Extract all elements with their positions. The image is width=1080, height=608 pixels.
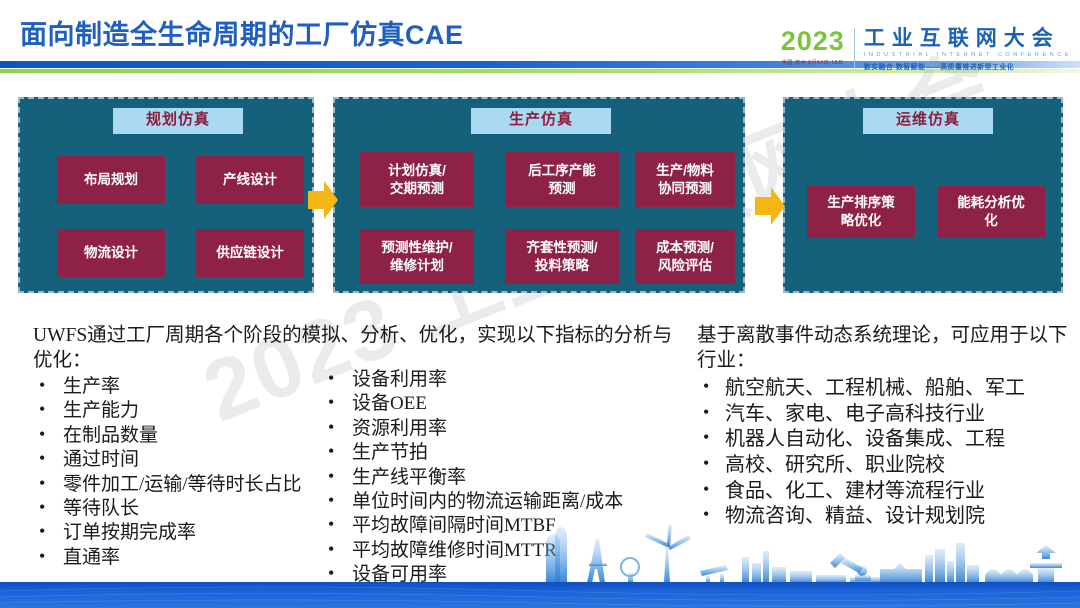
- list-item: 平均故障间隔时间MTBF: [322, 514, 692, 538]
- diagram-cell: 布局规划: [57, 156, 165, 204]
- list-item: 设备利用率: [322, 368, 692, 392]
- list-item: 资源利用率: [322, 417, 692, 441]
- slide-header: 面向制造全生命周期的工厂仿真CAE 2023 中国·苏州 8月14日-16日 工…: [0, 0, 1080, 78]
- diagram-panel-3: 运维仿真生产排序策略优化能耗分析优化: [783, 97, 1063, 293]
- conference-logo: 2023 中国·苏州 8月14日-16日 工业互联网大会 INDUSTRIAL …: [781, 28, 1072, 76]
- diagram-cell: 供应链设计: [196, 229, 304, 277]
- panel-title-3: 运维仿真: [863, 108, 993, 134]
- list-item: 生产线平衡率: [322, 466, 692, 490]
- diagram-cell: 生产排序策略优化: [807, 186, 915, 238]
- column-middle: 设备利用率设备OEE资源利用率生产节拍生产线平衡率单位时间内的物流运输距离/成本…: [322, 368, 692, 588]
- list-item: 平均故障维修时间MTTR: [322, 539, 692, 563]
- diagram-cell: 后工序产能预测: [505, 152, 619, 207]
- diagram-panel-1: 规划仿真布局规划产线设计物流设计供应链设计: [18, 97, 314, 293]
- logo-divider: [854, 28, 855, 68]
- list-item: 生产节拍: [322, 441, 692, 465]
- page-title: 面向制造全生命周期的工厂仿真CAE: [20, 13, 464, 52]
- logo-slogan: 数实融合 数智赋能——高质量推进新型工业化: [864, 61, 1072, 71]
- list-item: 食品、化工、建材等流程行业: [697, 479, 1069, 505]
- diagram-cell: 生产/物料协同预测: [635, 152, 735, 207]
- process-diagram: 规划仿真布局规划产线设计物流设计供应链设计生产仿真计划仿真/交期预测后工序产能预…: [0, 97, 1080, 297]
- list-item: 设备OEE: [322, 392, 692, 416]
- diagram-cell: 能耗分析优化: [937, 186, 1045, 238]
- panel-title-2: 生产仿真: [471, 108, 611, 134]
- logo-year: 2023: [781, 28, 845, 55]
- flow-arrow-icon: [755, 187, 785, 225]
- diagram-cell: 产线设计: [196, 156, 304, 204]
- list-item: 汽车、家电、电子高科技行业: [697, 402, 1069, 428]
- content-area: UWFS通过工厂周期各个阶段的模拟、分析、优化，实现以下指标的分析与优化： 生产…: [0, 300, 1080, 558]
- list-item: 设备可用率: [322, 563, 692, 587]
- right-bullet-list: 航空航天、工程机械、船舶、军工汽车、家电、电子高科技行业机器人自动化、设备集成、…: [697, 376, 1069, 530]
- logo-name-cn: 工业互联网大会: [864, 28, 1072, 50]
- middle-bullet-list: 设备利用率设备OEE资源利用率生产节拍生产线平衡率单位时间内的物流运输距离/成本…: [322, 368, 692, 588]
- left-paragraph: UWFS通过工厂周期各个阶段的模拟、分析、优化，实现以下指标的分析与优化：: [33, 324, 673, 374]
- diagram-cell: 齐套性预测/投料策略: [505, 229, 619, 284]
- diagram-cell: 成本预测/风险评估: [635, 229, 735, 284]
- list-item: 航空航天、工程机械、船舶、军工: [697, 376, 1069, 402]
- diagram-cell: 预测性维护/维修计划: [360, 229, 474, 284]
- diagram-cell: 物流设计: [57, 229, 165, 277]
- logo-year-block: 2023 中国·苏州 8月14日-16日: [781, 28, 854, 66]
- slide-root: 面向制造全生命周期的工厂仿真CAE 2023 中国·苏州 8月14日-16日 工…: [0, 0, 1080, 608]
- panel-title-1: 规划仿真: [113, 108, 243, 134]
- logo-text-block: 工业互联网大会 INDUSTRIAL INTERNET CONFERENCE 数…: [864, 28, 1072, 71]
- column-right: 基于离散事件动态系统理论，可应用于以下行业： 航空航天、工程机械、船舶、军工汽车…: [697, 324, 1069, 530]
- list-item: 机器人自动化、设备集成、工程: [697, 427, 1069, 453]
- list-item: 高校、研究所、职业院校: [697, 453, 1069, 479]
- list-item: 单位时间内的物流运输距离/成本: [322, 490, 692, 514]
- diagram-panel-2: 生产仿真计划仿真/交期预测后工序产能预测生产/物料协同预测预测性维护/维修计划齐…: [333, 97, 745, 293]
- diagram-cell: 计划仿真/交期预测: [360, 152, 474, 207]
- list-item: 物流咨询、精益、设计规划院: [697, 504, 1069, 530]
- logo-name-en: INDUSTRIAL INTERNET CONFERENCE: [864, 52, 1072, 58]
- right-paragraph: 基于离散事件动态系统理论，可应用于以下行业：: [697, 324, 1069, 374]
- flow-arrow-icon: [308, 181, 338, 219]
- logo-date-location: 中国·苏州 8月14日-16日: [782, 60, 844, 67]
